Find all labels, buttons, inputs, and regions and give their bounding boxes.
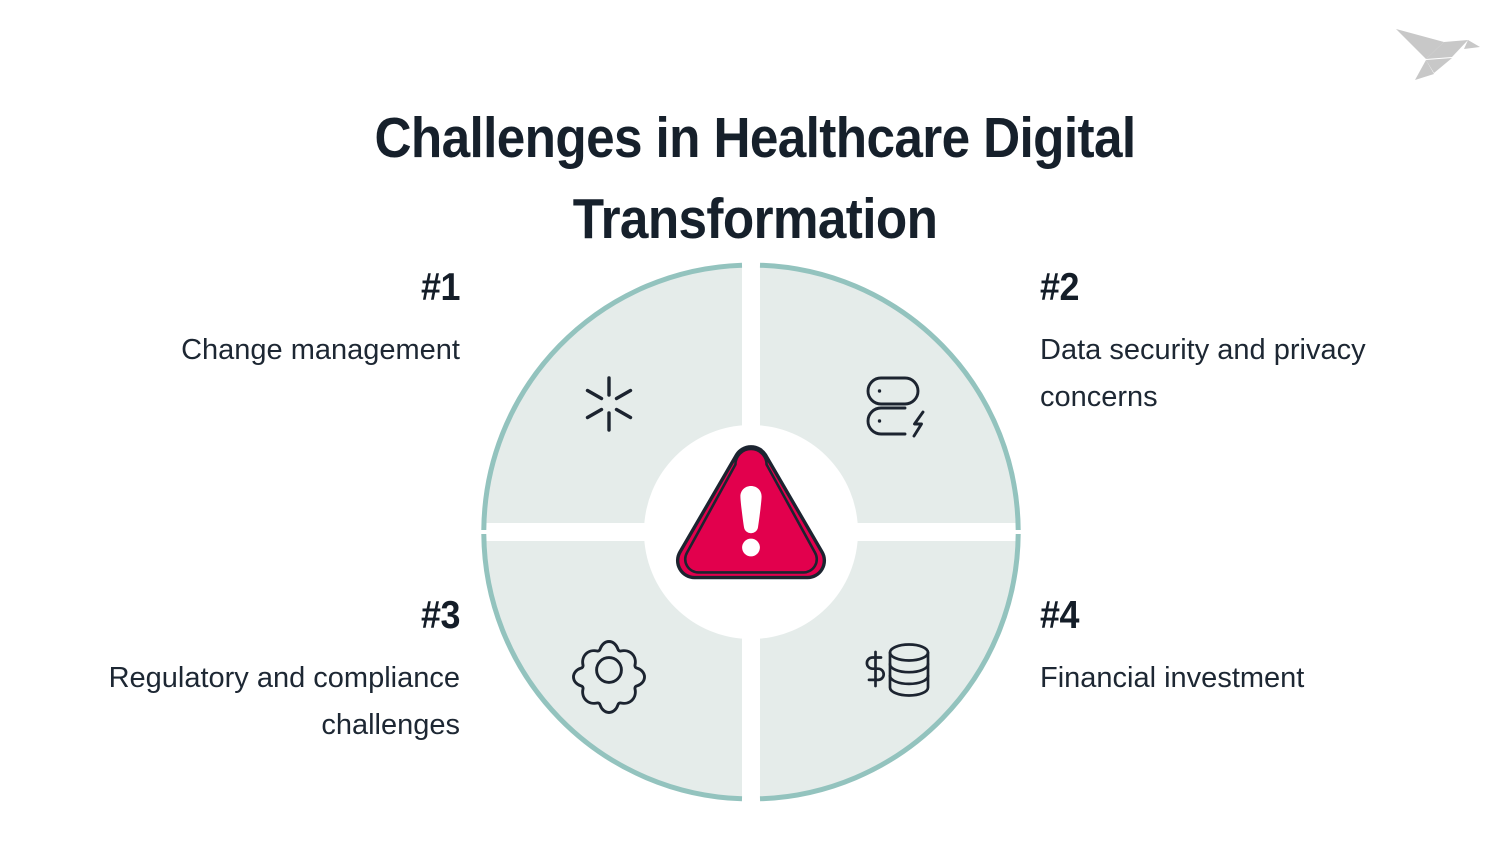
page-title: Challenges in Healthcare Digital Transfo… <box>301 98 1210 260</box>
quadrant-label-1: #1 Change management <box>60 268 460 374</box>
quadrant-label-2: #2 Data security and privacy concerns <box>1040 268 1440 421</box>
quadrant-number-2: #2 <box>1040 268 1408 307</box>
slide-canvas: Challenges in Healthcare Digital Transfo… <box>0 0 1500 866</box>
quadrant-description-2: Data security and privacy concerns <box>1040 327 1440 421</box>
quadrant-number-4: #4 <box>1040 596 1408 635</box>
quadrant-number-1: #1 <box>92 268 460 307</box>
quadrant-description-4: Financial investment <box>1040 655 1440 702</box>
quadrant-description-1: Change management <box>60 327 460 374</box>
quadrant-description-3: Regulatory and compliance challenges <box>60 655 460 749</box>
donut-diagram <box>481 262 1021 802</box>
quadrant-label-4: #4 Financial investment <box>1040 596 1440 702</box>
quadrant-label-3: #3 Regulatory and compliance challenges <box>60 596 460 749</box>
origami-bird-logo <box>1390 18 1486 88</box>
quadrant-number-3: #3 <box>92 596 460 635</box>
